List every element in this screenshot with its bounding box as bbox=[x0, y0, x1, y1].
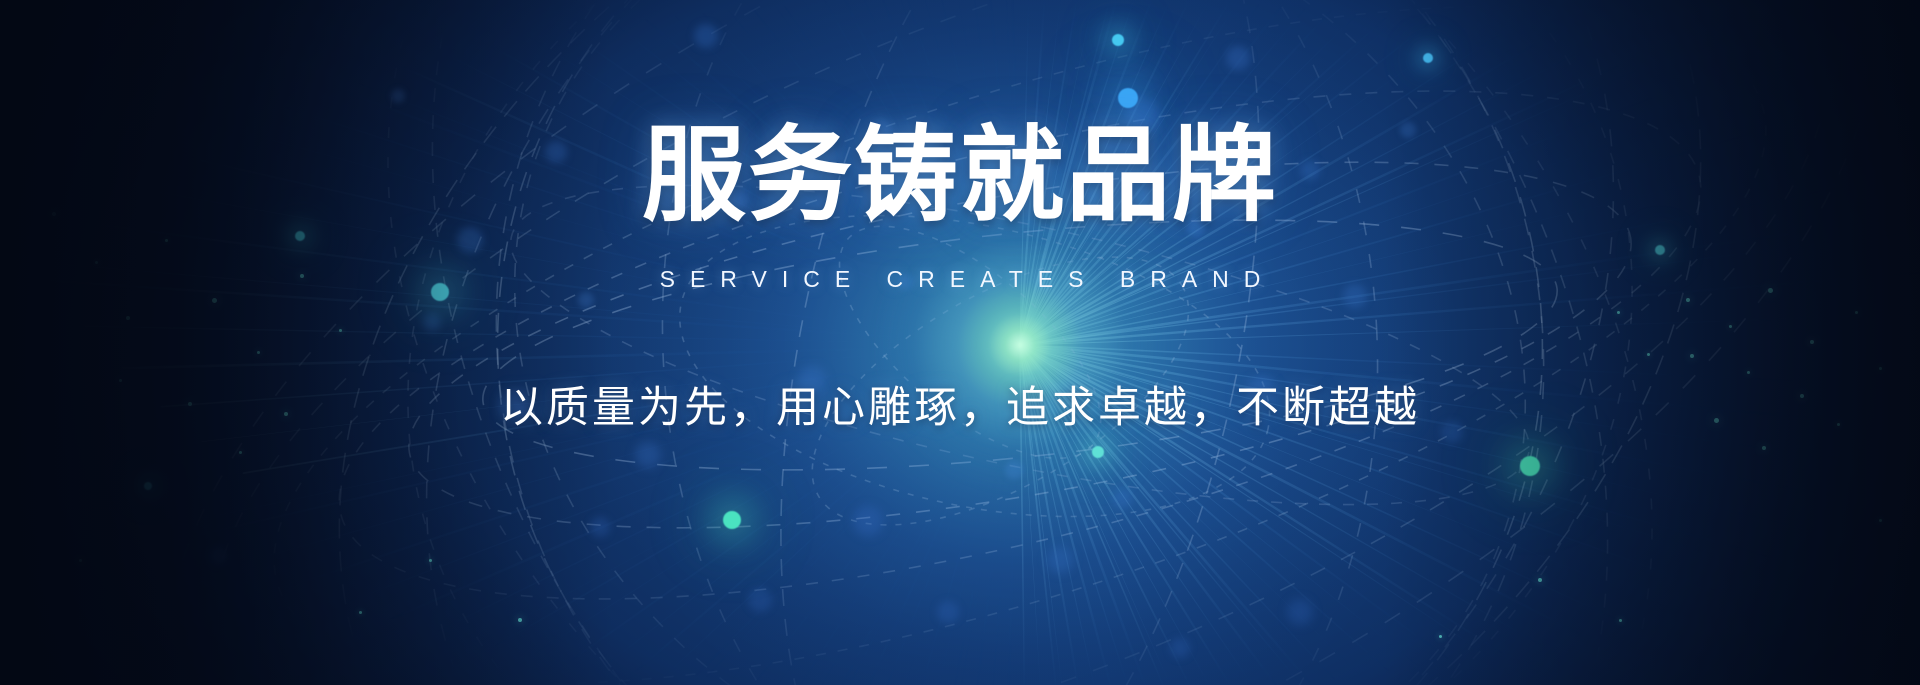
banner-subtitle: SERVICE CREATES BRAND bbox=[0, 266, 1920, 293]
hero-banner: 服务铸就品牌 SERVICE CREATES BRAND 以质量为先，用心雕琢，… bbox=[0, 0, 1920, 685]
banner-tagline: 以质量为先，用心雕琢，追求卓越，不断超越 bbox=[0, 373, 1920, 435]
page-title: 服务铸就品牌 bbox=[0, 118, 1920, 234]
edge-fade-overlay bbox=[0, 0, 1920, 685]
